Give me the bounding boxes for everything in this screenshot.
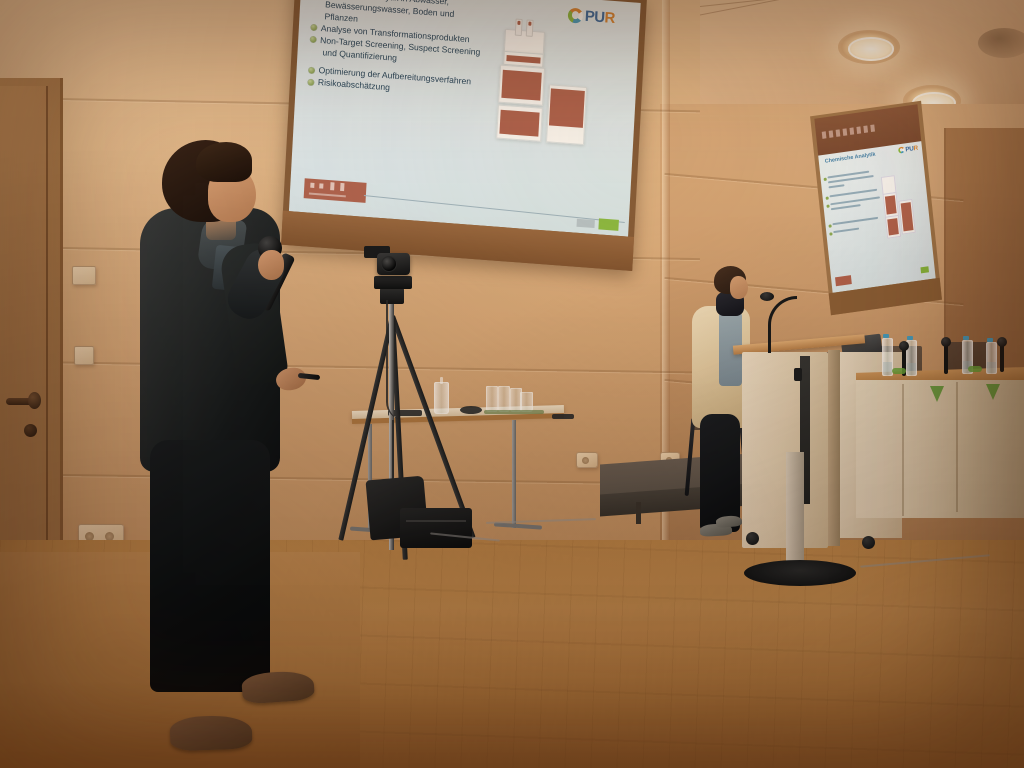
table-green-banner xyxy=(930,386,944,402)
power-outlet[interactable] xyxy=(576,452,598,468)
equipment-case[interactable] xyxy=(400,508,472,548)
header-icon xyxy=(870,124,875,132)
table-green-decoration xyxy=(968,366,982,372)
pur-prefix: PU xyxy=(584,8,605,26)
footer-icon xyxy=(310,183,314,188)
door-knob-icon[interactable] xyxy=(28,392,41,409)
screen2-lab-photo xyxy=(883,192,899,218)
pur-wordmark: PUR xyxy=(584,9,615,26)
lab-band xyxy=(506,55,541,64)
water-bottle[interactable] xyxy=(434,382,449,414)
door-lock-icon[interactable] xyxy=(24,424,37,437)
footer-underline xyxy=(309,193,346,198)
pur-circle-icon xyxy=(568,8,584,24)
screen2-text-line xyxy=(832,217,878,225)
lab-instrument-photo xyxy=(498,65,545,106)
bullet-dot-icon xyxy=(310,36,316,42)
lab-band xyxy=(885,195,897,214)
header-icon xyxy=(863,125,868,133)
header-icon xyxy=(829,130,834,138)
lectern-base xyxy=(744,560,856,586)
bottle-cap-icon xyxy=(963,336,969,340)
pur-circle-icon xyxy=(898,146,905,153)
lectern-person-legs xyxy=(700,414,740,532)
bottle-cap-icon xyxy=(907,336,913,340)
caster-wheel xyxy=(862,536,875,549)
table-green-banner xyxy=(986,384,1000,400)
water-bottle[interactable] xyxy=(986,342,997,374)
header-icon xyxy=(856,126,861,134)
lectern-side-edge xyxy=(828,350,840,546)
panel-table-divider xyxy=(956,382,958,512)
footer-icon xyxy=(319,183,323,188)
lectern-person-face xyxy=(730,276,748,299)
downlight-ring xyxy=(848,37,894,60)
screen2-text-line xyxy=(828,184,844,188)
pur-suffix: R xyxy=(913,144,918,152)
lectern-control-button[interactable] xyxy=(794,368,802,381)
drinking-glass[interactable] xyxy=(520,392,533,412)
drinking-glass[interactable] xyxy=(498,386,510,412)
case-stripe xyxy=(406,520,466,522)
screen2-bullet-dot-icon xyxy=(829,232,832,235)
screen2-text-line xyxy=(833,228,859,234)
header-icon xyxy=(849,127,854,135)
lectern-body xyxy=(742,352,828,548)
table-tray[interactable] xyxy=(460,406,482,414)
camera-lens-icon xyxy=(381,256,397,272)
stage-leg xyxy=(636,502,641,524)
slide-footer-box xyxy=(304,178,367,203)
screen2-partner-logo xyxy=(920,266,929,273)
screen2-footer-box xyxy=(835,275,852,286)
footer-icon xyxy=(340,183,344,191)
screen2-slide-surface: Chemische Analytik PUR xyxy=(818,141,935,293)
drinking-glass[interactable] xyxy=(486,386,498,412)
outlet-socket-icon xyxy=(582,457,589,464)
caster-wheel xyxy=(746,532,759,545)
bottle-cap-icon xyxy=(883,334,889,338)
screen2-lab-photo xyxy=(898,199,915,235)
header-icon xyxy=(822,131,827,139)
table-microphone[interactable] xyxy=(1000,344,1004,372)
table-decoration xyxy=(484,410,544,414)
pur-suffix: R xyxy=(604,9,615,27)
speaker-legs xyxy=(150,440,270,692)
lab-vial-icon xyxy=(526,19,534,37)
screen2-text-line xyxy=(829,189,877,198)
light-switch[interactable] xyxy=(74,346,94,365)
camera-cable xyxy=(386,300,404,420)
camera-mount-plate xyxy=(374,276,412,289)
lab-instrument-photo xyxy=(496,105,543,142)
bullet-dot-icon xyxy=(308,67,314,73)
pur-wordmark: PUR xyxy=(905,145,918,153)
screen2-bullet-dot-icon xyxy=(826,205,829,208)
light-switch[interactable] xyxy=(72,266,96,285)
lab-band xyxy=(549,88,584,127)
screen2-lab-photo xyxy=(885,215,901,239)
ceiling-downlight xyxy=(838,30,900,64)
gooseneck-microphone-head-icon xyxy=(760,292,774,301)
header-icon xyxy=(836,129,841,137)
table-green-decoration xyxy=(892,368,906,374)
lab-band xyxy=(887,218,899,235)
screen2-pur-logo: PUR xyxy=(898,145,918,154)
panel-table-divider xyxy=(902,384,904,516)
speaker-shoe xyxy=(169,715,252,752)
partner-logo-grey xyxy=(577,219,595,228)
bottle-cap-icon xyxy=(987,338,993,342)
lab-vial-icon xyxy=(515,19,523,37)
lab-band xyxy=(501,70,542,101)
lab-instrument-photo xyxy=(546,84,587,145)
footer-icon xyxy=(330,182,334,190)
screen2-text-line xyxy=(831,204,861,210)
speaker-hair-front xyxy=(196,142,252,182)
door[interactable] xyxy=(0,86,48,574)
projection-screen-main: Chemische Analytik Spurenstoffanalytik i… xyxy=(281,0,647,271)
screen2-bullet-dot-icon xyxy=(826,197,829,200)
ceiling-speaker-icon xyxy=(978,28,1024,58)
slide-surface: Chemische Analytik Spurenstoffanalytik i… xyxy=(289,0,641,237)
pur-logo: PUR xyxy=(568,8,616,26)
lab-band xyxy=(499,110,540,137)
table-item[interactable] xyxy=(552,414,574,419)
bullet-dot-icon xyxy=(308,79,314,85)
screen2-bullet-dot-icon xyxy=(824,178,827,181)
conference-room-photo: Chemische Analytik Spurenstoffanalytik i… xyxy=(0,0,1024,768)
bullet-dot-icon xyxy=(311,24,317,30)
screen2-bullet-dot-icon xyxy=(828,224,831,227)
partner-logo-green xyxy=(598,218,619,230)
side-table-leg xyxy=(512,420,516,528)
lab-band xyxy=(901,202,914,231)
projection-screen-secondary: Chemische Analytik PUR xyxy=(810,101,942,316)
table-microphone[interactable] xyxy=(944,344,948,374)
screen2-header-icons xyxy=(822,124,875,138)
screen2-slide-title: Chemische Analytik xyxy=(825,152,876,165)
header-icon xyxy=(843,128,848,136)
speaker-hand xyxy=(258,250,284,280)
